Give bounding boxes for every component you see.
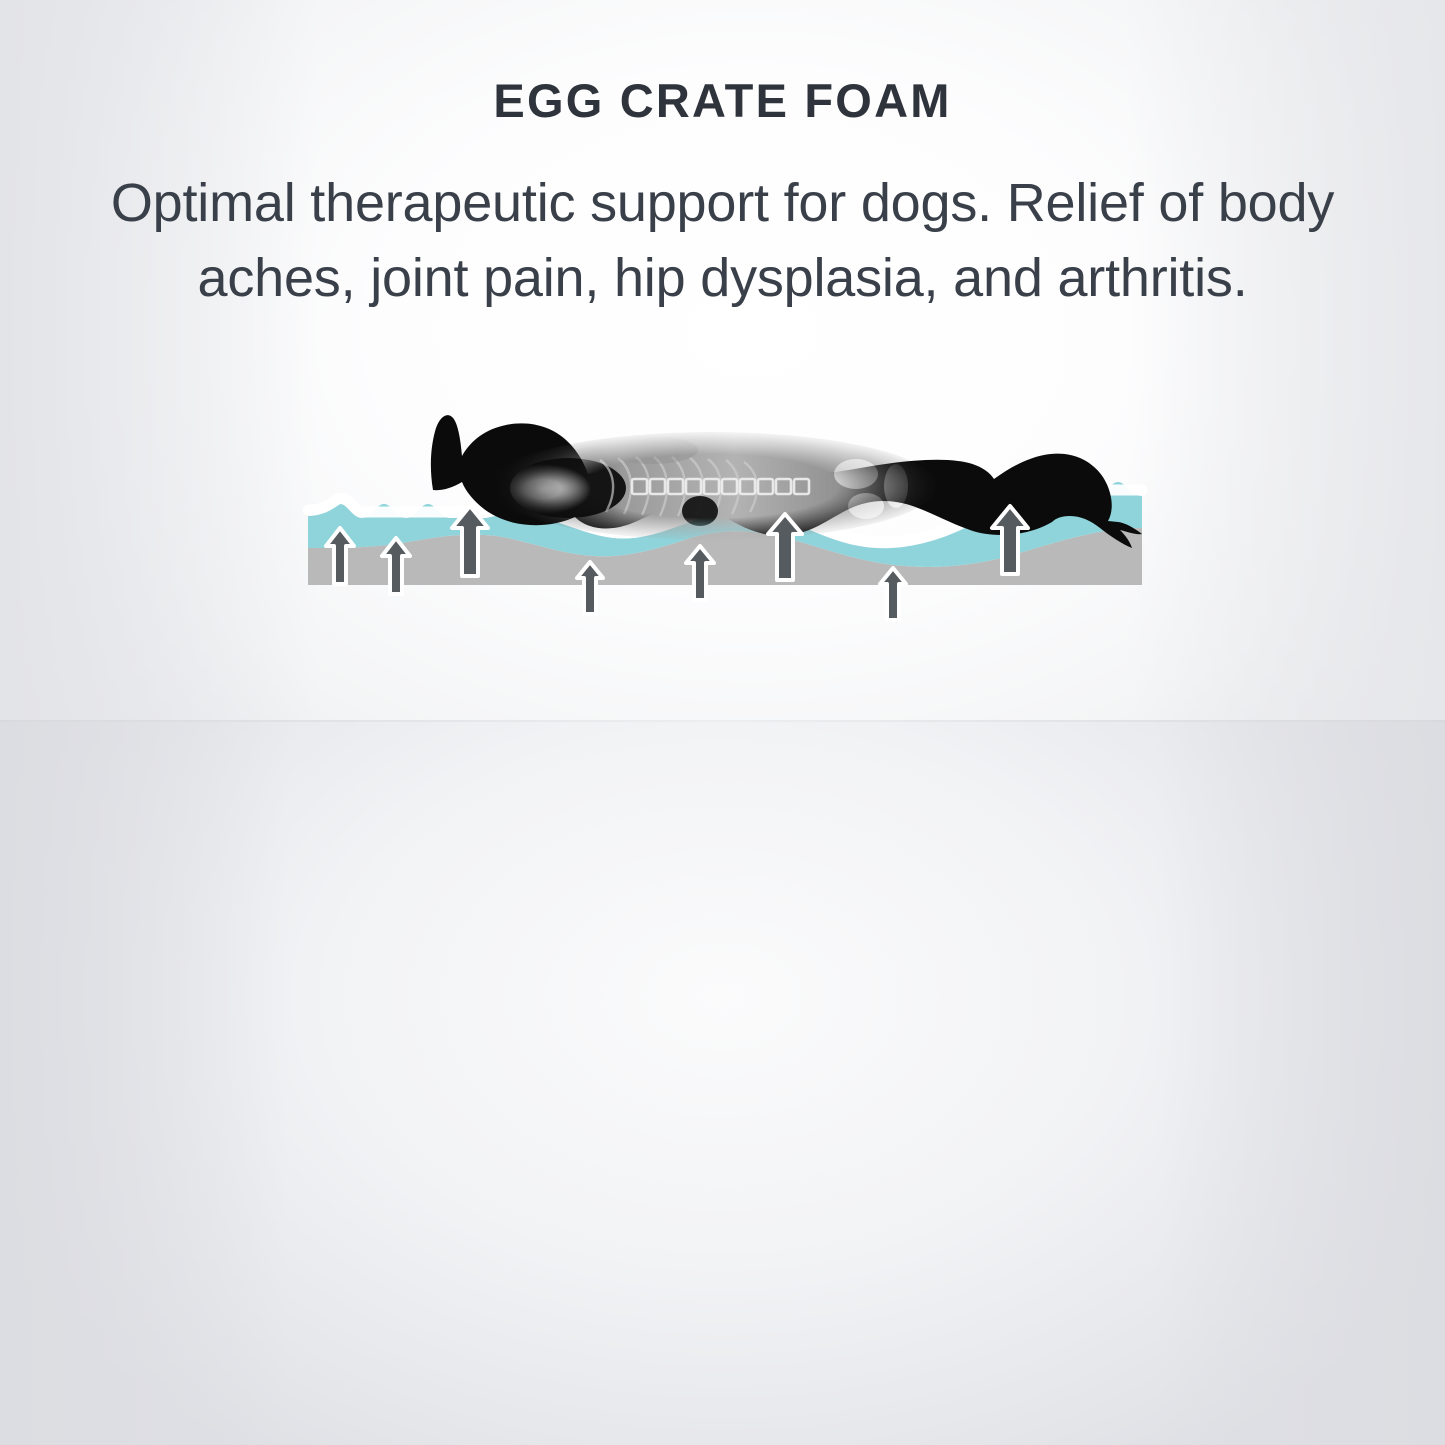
dog-xray-on-foam-support-diagram [300,378,1150,643]
section-increased-airflow: INCREASED AIRFLOW [0,722,1445,1445]
section-description: Optimal therapeutic support for dogs. Re… [53,166,1393,316]
product-infographic: EGG CRATE FOAM Optimal therapeutic suppo… [0,0,1445,1445]
page-title: EGG CRATE FOAM [0,73,1445,128]
dog-xray-overlay [487,432,937,540]
section-egg-crate-foam: EGG CRATE FOAM Optimal therapeutic suppo… [0,0,1445,722]
